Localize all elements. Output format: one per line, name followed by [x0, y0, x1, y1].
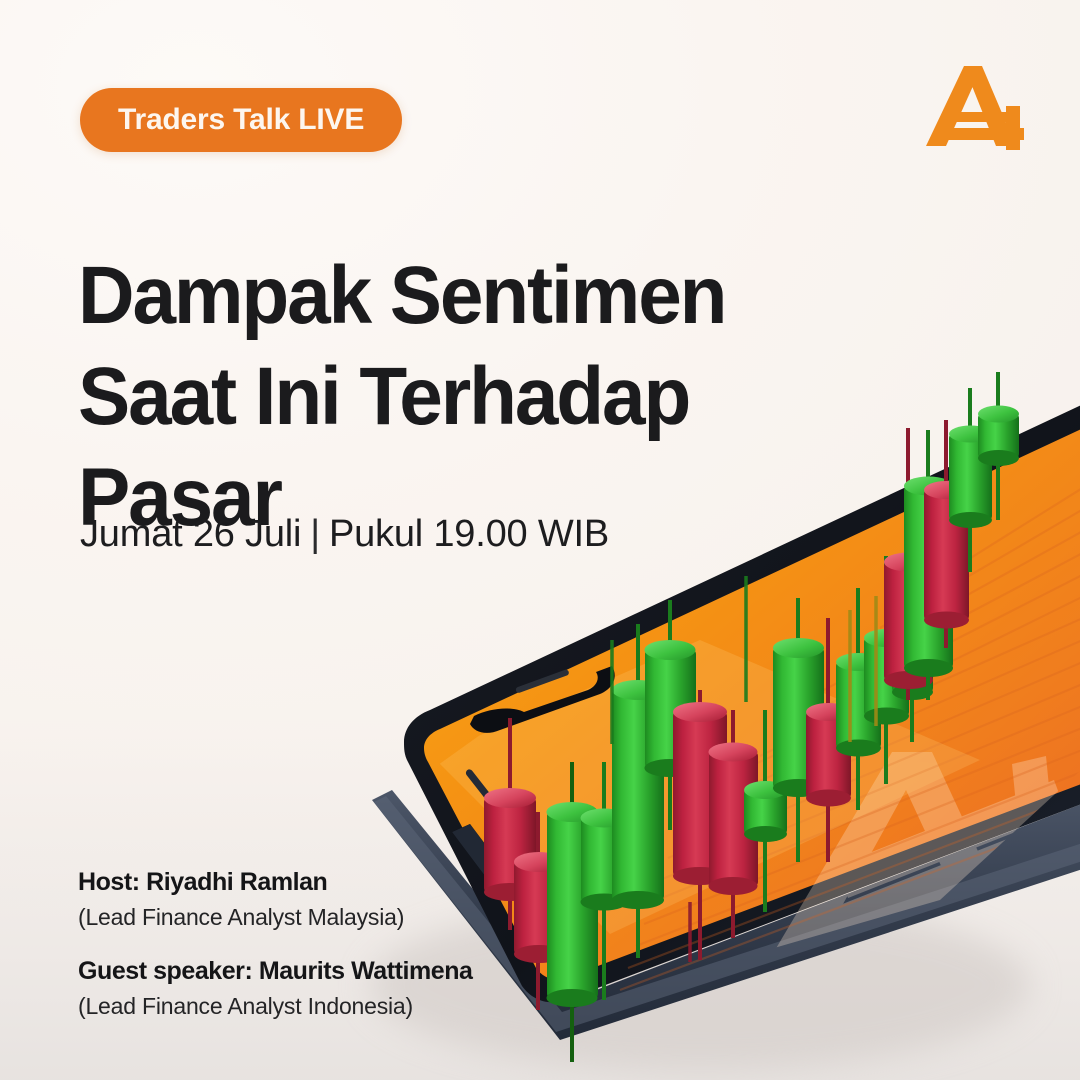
- headline-line-1: Dampak Sentimen: [78, 245, 804, 346]
- live-badge[interactable]: Traders Talk LIVE: [80, 88, 402, 152]
- logo-letter-a-icon: [924, 58, 1028, 158]
- brand-logo[interactable]: [924, 58, 1028, 158]
- speaker-host-role: (Lead Finance Analyst Malaysia): [78, 904, 473, 931]
- headline-line-2: Saat Ini Terhadap: [78, 346, 804, 447]
- event-date: Jumat 26 Juli: [80, 513, 301, 555]
- speaker-host-name: Host: Riyadhi Ramlan: [78, 868, 473, 897]
- speakers-list: Host: Riyadhi Ramlan (Lead Finance Analy…: [78, 868, 473, 1020]
- event-time: Pukul 19.00 WIB: [329, 513, 609, 555]
- poster-canvas: Traders Talk LIVE Dampak Sentimen Saat I…: [0, 0, 1080, 1080]
- speaker-guest-role: (Lead Finance Analyst Indonesia): [78, 993, 473, 1020]
- speaker-host: Host: Riyadhi Ramlan (Lead Finance Analy…: [78, 868, 473, 931]
- datetime-separator: |: [310, 513, 320, 556]
- live-badge-label: Traders Talk LIVE: [118, 103, 364, 137]
- event-datetime: Jumat 26 Juli|Pukul 19.00 WIB: [80, 513, 609, 556]
- page-title: Dampak Sentimen Saat Ini Terhadap Pasar: [78, 245, 804, 549]
- speaker-guest: Guest speaker: Maurits Wattimena (Lead F…: [78, 957, 473, 1020]
- speaker-guest-name: Guest speaker: Maurits Wattimena: [78, 957, 473, 986]
